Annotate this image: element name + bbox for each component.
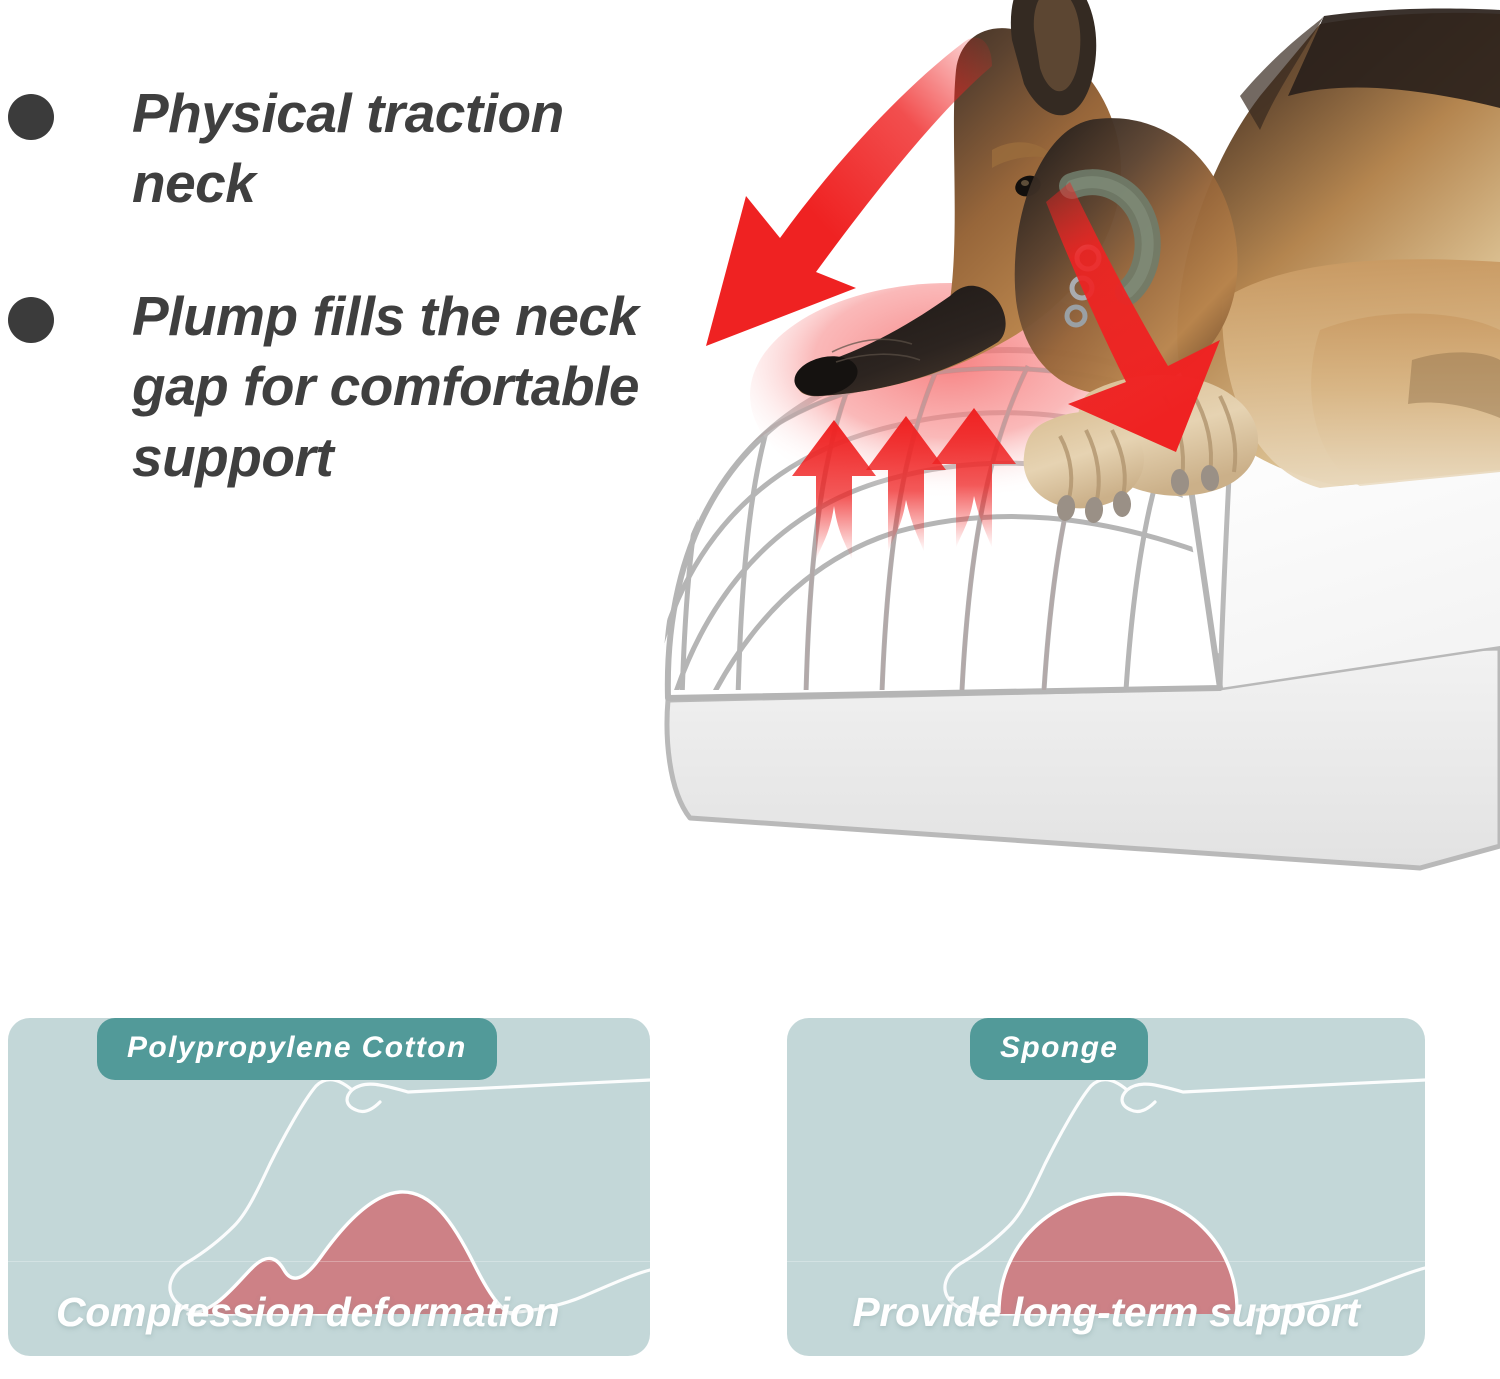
card-caption: Provide long-term support bbox=[787, 1289, 1425, 1336]
material-card-polypropylene-cotton: Polypropylene Cotton Compression deforma… bbox=[8, 1018, 650, 1356]
material-pill-label: Polypropylene Cotton bbox=[97, 1018, 497, 1080]
material-pill-label: Sponge bbox=[970, 1018, 1148, 1080]
scene-graphic bbox=[620, 0, 1500, 880]
list-item: Physical traction neck bbox=[0, 78, 640, 219]
material-comparison-cards: Polypropylene Cotton Compression deforma… bbox=[0, 975, 1500, 1379]
card-divider bbox=[8, 1261, 650, 1262]
material-card-sponge: Sponge Provide long-term support bbox=[787, 1018, 1425, 1356]
infographic-page: Physical traction neck Plump fills the n… bbox=[0, 0, 1500, 1379]
bullet-dot-icon bbox=[8, 94, 54, 140]
bullet-dot-icon bbox=[8, 297, 54, 343]
list-item: Plump fills the neck gap for comfortable… bbox=[0, 281, 640, 492]
bullet-label: Plump fills the neck gap for comfortable… bbox=[132, 281, 640, 492]
top-feature-section: Physical traction neck Plump fills the n… bbox=[0, 0, 1500, 940]
bullet-label: Physical traction neck bbox=[132, 78, 640, 219]
feature-bullet-list: Physical traction neck Plump fills the n… bbox=[0, 78, 640, 554]
card-caption: Compression deformation bbox=[8, 1289, 650, 1336]
dog-bed-photo-scene bbox=[620, 0, 1500, 880]
card-divider bbox=[787, 1261, 1425, 1262]
